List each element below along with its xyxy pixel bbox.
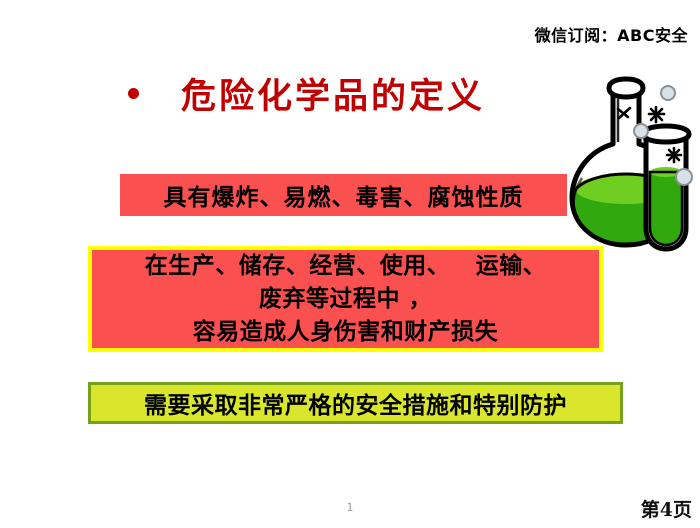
process-risk-line-3: 容易造成人身伤害和财产损失 [193,316,499,349]
process-risk-box: 在生产、储存、经营、使用、 运输、 废弃等过程中 ， 容易造成人身伤害和财产损失 [88,246,603,352]
subscription-note: 微信订阅：ABC安全 [535,22,688,46]
hazard-properties-text: 具有爆炸、易燃、毒害、腐蚀性质 [164,178,524,212]
safety-measures-text: 需要采取非常严格的安全措施和特别防护 [144,386,567,420]
process-risk-line-2: 废弃等过程中 ， [259,283,432,316]
chemistry-flask-illustration [556,52,700,277]
page-title-text: 危险化学品的定义 [181,68,485,119]
process-risk-line-1: 在生产、储存、经营、使用、 运输、 [145,250,547,283]
title-bullet-icon [128,88,139,99]
test-tube-icon [643,126,689,249]
slide-canvas: 微信订阅：ABC安全 危险化学品的定义 具有爆炸、易燃、毒害、腐蚀性质 在生产、… [0,0,700,528]
safety-measures-box: 需要采取非常严格的安全措施和特别防护 [88,382,623,424]
slide-number: 1 [0,501,700,514]
page-label: 第4页 [641,495,692,522]
hazard-properties-box: 具有爆炸、易燃、毒害、腐蚀性质 [120,174,567,216]
page-title: 危险化学品的定义 [128,68,485,119]
